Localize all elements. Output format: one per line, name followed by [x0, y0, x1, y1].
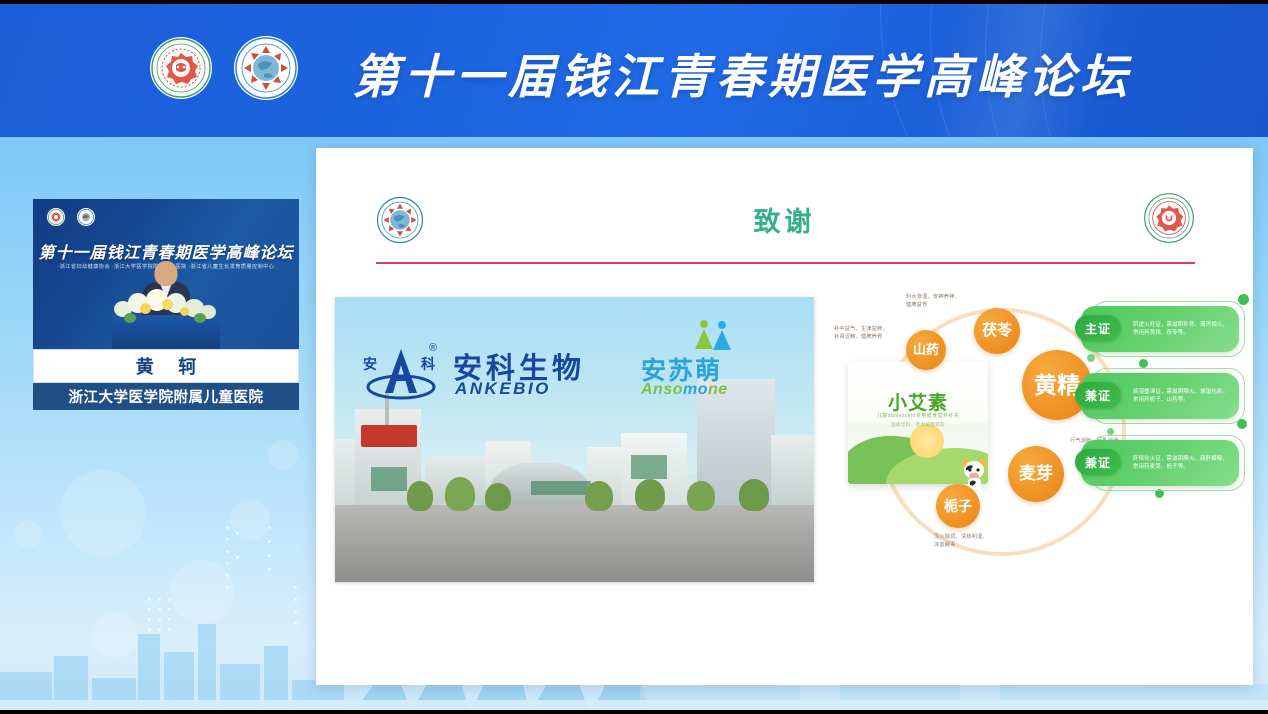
syndrome-card-list: 主证 阴虚火旺证，需滋阴补肾、清泻相火，常用药黄精、茯苓等。 兼证 痰湿壅滞证，… — [1081, 306, 1239, 486]
dot-pattern-decoration — [294, 586, 308, 628]
bokeh-decoration — [92, 612, 138, 658]
bokeh-decoration — [14, 520, 42, 548]
dot-pattern-decoration — [148, 598, 182, 638]
bokeh-decoration — [268, 440, 298, 470]
presentation-slide[interactable]: 致谢 — [316, 148, 1253, 685]
accent-dot — [1238, 294, 1249, 305]
qianjiang-forum-association-seal-icon — [234, 36, 298, 100]
tree — [635, 479, 665, 511]
herb-note: 补中益气、生津益肺、 补肾涩精、健脾养胃 — [834, 326, 912, 342]
ankebio-logo-icon: 安 科 ® — [357, 341, 445, 403]
accent-dot — [1139, 359, 1148, 368]
flower-arrangement — [110, 285, 222, 329]
slide-content: 安 科 ® 安科生物 ANKEBIO 安苏萌 Ansomone — [316, 278, 1253, 685]
speaker-video-thumbnail[interactable]: 第十一届钱江青春期医学高峰论坛 ·浙江省妇幼健康协会 ·浙江大学医学院附属儿童医… — [33, 199, 299, 349]
tree — [407, 481, 433, 511]
herb-note: 泻火除烦、清热利湿、 凉血解毒 — [934, 534, 1044, 550]
syndrome-text: 阴虚火旺证，需滋阴补肾、清泻相火，常用药黄精、茯苓等。 — [1133, 321, 1231, 338]
event-header-banner: 第十一届钱江青春期医学高峰论坛 — [0, 0, 1268, 137]
tree — [485, 483, 511, 511]
screen-bottom-border — [0, 710, 1268, 714]
svg-text:科: 科 — [421, 356, 435, 373]
ankebio-company-image: 安 科 ® 安科生物 ANKEBIO 安苏萌 Ansomone — [335, 297, 814, 582]
accent-dot — [1087, 354, 1095, 362]
speaker-affiliation-plate: 浙江大学医学院附属儿童医院 — [33, 383, 299, 410]
syndrome-card[interactable]: 主证 阴虚火旺证，需滋阴补肾、清泻相火，常用药黄精、茯苓等。 — [1081, 306, 1239, 352]
herb-circle: 山药 — [906, 330, 946, 370]
dot-pattern-decoration — [226, 526, 246, 596]
syndrome-text: 痰湿壅滞证，需滋阴降火、燥湿化痰，常用药栀子、山药等。 — [1133, 388, 1231, 405]
screen-top-border — [0, 0, 1268, 4]
syndrome-card[interactable]: 兼证 痰湿壅滞证，需滋阴降火、燥湿化痰，常用药栀子、山药等。 — [1081, 373, 1239, 419]
building-glass — [531, 481, 591, 495]
ansomone-en-part2: mo — [683, 381, 708, 398]
herb-label: 黄精 — [1034, 373, 1080, 397]
speaker-name: 黄 轲 — [126, 353, 207, 379]
speaker-name-plate: 黄 轲 — [33, 349, 299, 383]
ansomone-en-part3: ne — [708, 381, 728, 398]
hospital-seal-icon — [1143, 192, 1195, 244]
herb-circle: 麦芽 — [1008, 446, 1064, 502]
herb-note: 利水渗湿、安神养神、 健脾益胃 — [906, 294, 992, 310]
building-glass — [631, 455, 667, 479]
ansomone-en-part1: Anso — [641, 381, 683, 398]
photo-ground — [335, 505, 814, 582]
herb-circle: 茯苓 — [974, 308, 1020, 354]
herb-label: 山药 — [913, 343, 939, 357]
bokeh-decoration — [170, 560, 234, 624]
header-logo-group — [150, 36, 298, 100]
herb-label: 麦芽 — [1019, 465, 1053, 483]
tree — [739, 479, 769, 511]
building-sign-tower — [361, 425, 417, 447]
svg-text:®: ® — [429, 342, 437, 354]
accent-dot — [1107, 428, 1114, 435]
dot-pattern-decoration — [268, 526, 282, 574]
herb-label: 茯苓 — [982, 323, 1012, 339]
herb-label: 栀子 — [944, 499, 972, 514]
syndrome-card-wrapper: 兼证 肝郁化火证，需滋阴降火、疏肝解郁，常用药麦芽、栀子等。 — [1081, 440, 1239, 486]
herb-circle: 栀子 — [936, 484, 980, 528]
building — [771, 435, 814, 505]
svg-text:安: 安 — [363, 356, 377, 373]
bokeh-decoration — [230, 500, 270, 540]
speaker-panel: 第十一届钱江青春期医学高峰论坛 ·浙江省妇幼健康协会 ·浙江大学医学院附属儿童医… — [33, 199, 299, 410]
ankebio-brand-en: ANKEBIO — [455, 379, 551, 399]
syndrome-text: 肝郁化火证，需滋阴降火、疏肝解郁，常用药麦芽、栀子等。 — [1133, 455, 1231, 472]
zhejiang-children-hospital-seal-icon — [150, 37, 212, 99]
syndrome-tag: 兼证 — [1075, 449, 1121, 475]
presenter-head — [155, 261, 178, 286]
syndrome-card-wrapper: 主证 阴虚火旺证，需滋阴补肾、清泻相火，常用药黄精、茯苓等。 — [1081, 306, 1239, 352]
page-title: 第十一届钱江青春期医学高峰论坛 — [352, 38, 1132, 107]
slide-divider — [376, 262, 1195, 264]
slide-header: 致谢 — [316, 148, 1253, 240]
building-glass — [371, 467, 407, 491]
video-logo-right-icon — [77, 208, 95, 226]
package-subtitle: 儿童adolescent专用膳食营养补充 — [848, 412, 988, 419]
tree — [687, 481, 715, 511]
package-brand-name: 小艾素 — [848, 388, 988, 415]
bokeh-decoration — [60, 470, 146, 556]
tree — [445, 477, 475, 511]
video-logo-left-icon — [47, 208, 65, 226]
package-subtitle-2: 固体饮料 · 草本植物萃取 — [848, 422, 988, 428]
ansomone-brand-en: Ansomone — [641, 381, 728, 399]
ansomone-kids-icon — [693, 319, 735, 353]
syndrome-card[interactable]: 兼证 肝郁化火证，需滋阴降火、疏肝解郁，常用药麦芽、栀子等。 — [1081, 440, 1239, 486]
screen: 第十一届钱江青春期医学高峰论坛 第十一届钱江青春期医学 — [0, 0, 1268, 714]
syndrome-tag: 主证 — [1075, 315, 1121, 341]
syndrome-tag: 兼证 — [1075, 382, 1121, 408]
speaker-affiliation: 浙江大学医学院附属儿童医院 — [69, 386, 264, 407]
syndrome-card-wrapper: 兼证 痰湿壅滞证，需滋阴降火、燥湿化痰，常用药栀子、山药等。 — [1081, 373, 1239, 419]
video-overlay-title: 第十一届钱江青春期医学高峰论坛 — [33, 239, 299, 263]
package-sun — [910, 424, 944, 458]
slide-title: 致谢 — [316, 200, 1253, 239]
tree — [585, 481, 613, 511]
